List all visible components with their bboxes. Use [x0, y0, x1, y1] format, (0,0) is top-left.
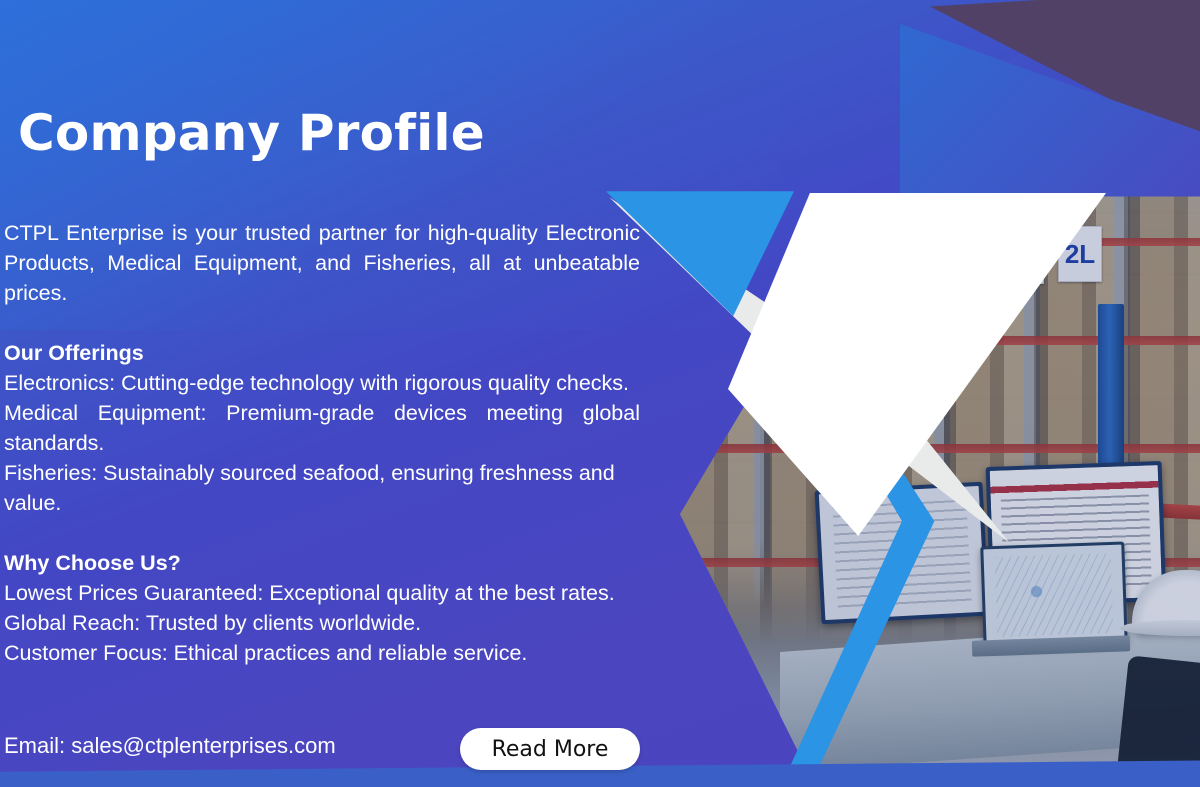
spacer-2: [4, 518, 640, 548]
read-more-button[interactable]: Read More: [460, 728, 640, 770]
contact-email[interactable]: Email: sales@ctplenterprises.com: [4, 733, 336, 759]
photo-chair: [1115, 655, 1200, 772]
offering-item-fisheries: Fisheries: Sustainably sourced seafood, …: [4, 458, 640, 518]
photo-laptop: [980, 542, 1127, 649]
photo-laptop-screen: [983, 545, 1124, 646]
content-column: Company Profile CTPL Enterprise is your …: [0, 0, 660, 787]
spacer-1: [4, 308, 640, 338]
company-profile-banner: 2J 2N 2M 2L Company Profile CTPL Enterpr…: [0, 0, 1200, 787]
body-copy: CTPL Enterprise is your trusted partner …: [4, 218, 640, 668]
why-point-customer-focus: Customer Focus: Ethical practices and re…: [4, 638, 640, 668]
intro-paragraph: CTPL Enterprise is your trusted partner …: [4, 218, 640, 308]
offerings-heading: Our Offerings: [4, 338, 640, 368]
offering-item-electronics: Electronics: Cutting-edge technology wit…: [4, 368, 640, 398]
offering-item-medical: Medical Equipment: Premium-grade devices…: [4, 398, 640, 458]
why-point-global-reach: Global Reach: Trusted by clients worldwi…: [4, 608, 640, 638]
why-point-lowest-prices: Lowest Prices Guaranteed: Exceptional qu…: [4, 578, 640, 608]
why-choose-us-heading: Why Choose Us?: [4, 548, 640, 578]
page-title: Company Profile: [18, 104, 485, 162]
